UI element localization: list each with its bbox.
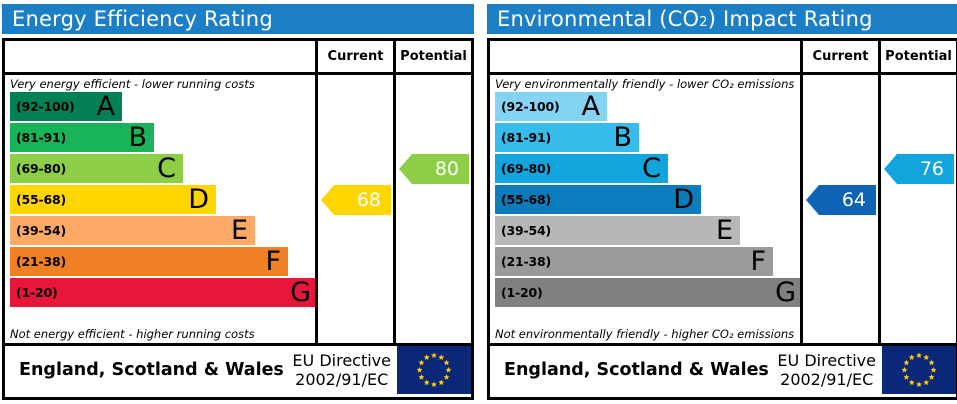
rating-band-e: (39-54) E (495, 216, 740, 245)
header-blank-cell (490, 41, 800, 72)
band-letter-label: C (157, 154, 176, 181)
eu-flag-icon (882, 346, 956, 394)
current-rating-arrow: 64 (806, 185, 876, 215)
potential-rating-value: 80 (435, 158, 459, 180)
chart-footer-row: England, Scotland & Wales EU Directive 2… (5, 346, 471, 394)
band-range-label: (55-68) (10, 192, 66, 207)
footer-country-label: England, Scotland & Wales (490, 346, 771, 394)
band-range-label: (1-20) (10, 285, 58, 300)
column-header-row: Current Potential (490, 41, 956, 75)
band-letter-label: D (673, 185, 694, 212)
rating-band-f: (21-38) F (495, 247, 773, 276)
band-range-label: (92-100) (10, 99, 75, 114)
footer-country-label: England, Scotland & Wales (5, 346, 286, 394)
rating-band-b: (81-91) B (495, 123, 639, 152)
directive-line-2: 2002/91/EC (295, 370, 388, 389)
band-letter-label: A (97, 92, 115, 119)
chart-title-suffix: ) Impact Rating (708, 7, 873, 31)
rating-band-a: (92-100) A (495, 92, 607, 121)
band-letter-label: B (613, 123, 632, 150)
potential-column-header: Potential (393, 41, 471, 72)
directive-line-1: EU Directive (292, 351, 391, 370)
rating-band-d: (55-68) D (10, 185, 216, 214)
band-range-label: (81-91) (495, 130, 551, 145)
header-blank-cell (5, 41, 315, 72)
band-range-label: (21-38) (495, 254, 551, 269)
eu-flag-icon (397, 346, 471, 394)
rating-band-f: (21-38) F (10, 247, 288, 276)
current-rating-column: 68 (315, 75, 393, 343)
band-letter-label: E (716, 216, 733, 243)
band-range-label: (92-100) (495, 99, 560, 114)
epc-chart-co2-impact: Environmental (CO2) Impact Rating Curren… (487, 0, 957, 404)
band-letter-label: G (775, 278, 796, 305)
rating-band-c: (69-80) C (495, 154, 668, 183)
chart-body-row: Very energy efficient - lower running co… (5, 75, 471, 346)
rating-bands-list: (92-100) A (81-91) B (69-80) C (55-68) D… (495, 92, 800, 309)
caption-top: Very energy efficient - lower running co… (5, 75, 315, 92)
directive-line-1: EU Directive (777, 351, 876, 370)
potential-rating-arrow: 80 (399, 154, 469, 184)
rating-bands-column: Very energy efficient - lower running co… (5, 75, 315, 343)
current-rating-arrow: 68 (321, 185, 391, 215)
chart-title-bar: Energy Efficiency Rating (2, 4, 474, 34)
band-letter-label: E (231, 216, 248, 243)
band-letter-label: A (582, 92, 600, 119)
band-range-label: (39-54) (495, 223, 551, 238)
band-range-label: (1-20) (495, 285, 543, 300)
potential-rating-column: 76 (878, 75, 956, 343)
potential-rating-value: 76 (920, 158, 944, 180)
band-range-label: (21-38) (10, 254, 66, 269)
chart-title-prefix: Environmental (CO (497, 7, 699, 31)
current-rating-column: 64 (800, 75, 878, 343)
rating-band-b: (81-91) B (10, 123, 154, 152)
band-range-label: (69-80) (495, 161, 551, 176)
rating-bands-list: (92-100) A (81-91) B (69-80) C (55-68) D… (10, 92, 315, 309)
band-letter-label: C (642, 154, 661, 181)
rating-band-g: (1-20) G (10, 278, 315, 307)
band-letter-label: D (188, 185, 209, 212)
band-letter-label: F (265, 247, 281, 274)
footer-directive-label: EU Directive 2002/91/EC (286, 346, 397, 394)
rating-band-g: (1-20) G (495, 278, 800, 307)
caption-top: Very environmentally friendly - lower CO… (490, 75, 800, 92)
chart-title-bar: Environmental (CO2) Impact Rating (487, 4, 957, 34)
band-letter-label: B (128, 123, 147, 150)
band-range-label: (39-54) (10, 223, 66, 238)
band-letter-label: F (750, 247, 766, 274)
rating-bands-column: Very environmentally friendly - lower CO… (490, 75, 800, 343)
rating-band-d: (55-68) D (495, 185, 701, 214)
band-range-label: (81-91) (10, 130, 66, 145)
epc-charts-page: Energy Efficiency Rating Current Potenti… (0, 0, 957, 404)
rating-band-e: (39-54) E (10, 216, 255, 245)
chart-frame: Current Potential Very energy efficient … (2, 38, 474, 400)
chart-frame: Current Potential Very environmentally f… (487, 38, 957, 400)
caption-bottom: Not energy efficient - higher running co… (5, 325, 255, 342)
potential-rating-arrow: 76 (884, 154, 954, 184)
directive-line-2: 2002/91/EC (780, 370, 873, 389)
potential-column-header: Potential (878, 41, 956, 72)
chart-title-subscript: 2 (699, 15, 707, 30)
band-letter-label: G (290, 278, 311, 305)
chart-title-prefix: Energy Efficiency Rating (12, 7, 273, 31)
rating-band-c: (69-80) C (10, 154, 183, 183)
current-rating-value: 64 (842, 189, 866, 211)
current-column-header: Current (800, 41, 878, 72)
current-column-header: Current (315, 41, 393, 72)
caption-bottom: Not environmentally friendly - higher CO… (490, 325, 794, 342)
epc-chart-energy-efficiency: Energy Efficiency Rating Current Potenti… (2, 0, 474, 404)
potential-rating-column: 80 (393, 75, 471, 343)
chart-body-row: Very environmentally friendly - lower CO… (490, 75, 956, 346)
band-range-label: (55-68) (495, 192, 551, 207)
column-header-row: Current Potential (5, 41, 471, 75)
current-rating-value: 68 (357, 189, 381, 211)
band-range-label: (69-80) (10, 161, 66, 176)
chart-footer-row: England, Scotland & Wales EU Directive 2… (490, 346, 956, 394)
footer-directive-label: EU Directive 2002/91/EC (771, 346, 882, 394)
rating-band-a: (92-100) A (10, 92, 122, 121)
